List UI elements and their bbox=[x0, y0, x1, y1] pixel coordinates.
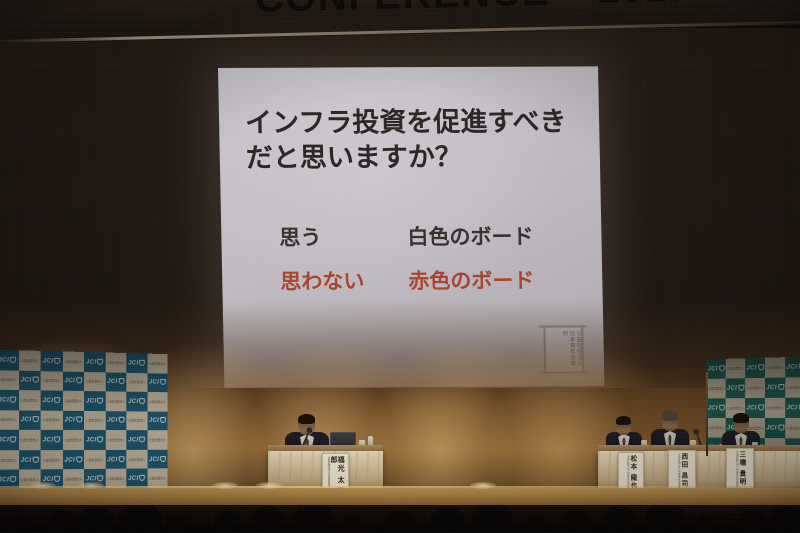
backdrop-tile-org-text: 公益社団法人 bbox=[766, 365, 784, 370]
backdrop-tile-text: 公益社団法人 bbox=[785, 418, 800, 438]
backdrop-tile-jci-logo: JCI bbox=[0, 430, 19, 450]
conference-photo: CONFERENCE 2017 JCI インフラ投資を促進すべき だと思いますか… bbox=[0, 0, 800, 533]
jci-logo-icon: JCI bbox=[0, 356, 16, 364]
jci-logo-icon: JCI bbox=[128, 475, 145, 482]
jci-logo-icon: JCI bbox=[107, 417, 124, 424]
jci-logo-icon: JCI bbox=[64, 456, 82, 463]
backdrop-tile-text: 公益社団法人 bbox=[62, 351, 84, 371]
backdrop-tile-text: 公益社団法人 bbox=[105, 391, 126, 411]
jci-logo-icon: JCI bbox=[727, 385, 744, 392]
backdrop-tile-org-text: 公益社団法人 bbox=[86, 457, 104, 461]
audience-head bbox=[5, 515, 31, 533]
jci-logo-icon: JCI bbox=[0, 436, 16, 443]
nameplate-panelist-1-name: 松本 龍也 bbox=[629, 455, 636, 489]
audience-head bbox=[385, 510, 416, 533]
backdrop-tile-text: 公益社団法人 bbox=[147, 430, 168, 449]
jci-logo-icon: JCI bbox=[43, 357, 61, 364]
jci-logo-icon: JCI bbox=[786, 363, 800, 371]
audience-head bbox=[644, 505, 685, 533]
backdrop-tile-org-text: 公益社団法人 bbox=[20, 438, 39, 442]
jci-logo-icon: JCI bbox=[149, 379, 166, 386]
backdrop-tile-org-text: 公益社団法人 bbox=[727, 366, 745, 371]
backdrop-tile-text: 公益社団法人 bbox=[84, 450, 105, 470]
audience-head bbox=[737, 510, 768, 533]
jci-logo-icon: JCI bbox=[128, 359, 145, 366]
backdrop-tile-text: 公益社団法人 bbox=[0, 410, 19, 430]
audience-head bbox=[250, 506, 286, 533]
jci-logo-icon: JCI bbox=[128, 398, 145, 405]
jci-logo-icon: JCI bbox=[0, 396, 16, 403]
backdrop-tile-org-text: 公益社団法人 bbox=[20, 477, 39, 482]
slide-option-board-1: 白色のボード bbox=[407, 221, 534, 252]
backdrop-tile-org-text: 公益社団法人 bbox=[149, 476, 166, 480]
backdrop-tile-org-text: 公益社団法人 bbox=[64, 359, 82, 364]
backdrop-tile-org-text: 公益社団法人 bbox=[128, 457, 145, 461]
audience-head bbox=[292, 505, 333, 533]
backdrop-tile-jci-logo: JCI bbox=[707, 359, 726, 379]
backdrop-tile-org-text: 公益社団法人 bbox=[64, 398, 82, 403]
jci-logo-icon: JCI bbox=[64, 417, 82, 424]
backdrop-tile-jci-logo: JCI bbox=[785, 398, 800, 418]
nameplate-panelist-2-name: 西田 昌司 bbox=[680, 453, 687, 487]
audience-head bbox=[47, 510, 78, 533]
backdrop-tile-org-text: 公益社団法人 bbox=[746, 386, 764, 391]
backdrop-tile-text: 公益社団法人 bbox=[126, 450, 147, 469]
jci-logo-icon: JCI bbox=[766, 425, 784, 432]
backdrop-tile-org-text: 公益社団法人 bbox=[0, 418, 17, 423]
audience-silhouettes bbox=[0, 505, 800, 533]
jci-logo-icon: JCI bbox=[746, 404, 763, 411]
backdrop-tile-jci-logo: JCI bbox=[41, 390, 63, 410]
jci-logo-icon: JCI bbox=[21, 417, 39, 424]
stage-stand-left bbox=[706, 372, 708, 456]
backdrop-tile-jci-logo: JCI bbox=[62, 410, 84, 430]
jci-logo-icon: JCI bbox=[107, 378, 124, 385]
slide-corner-seal-icon: 公益社団法人日本青年会議所 bbox=[543, 325, 584, 371]
backdrop-tile-jci-logo: JCI bbox=[126, 353, 147, 373]
backdrop-tile-text: 公益社団法人 bbox=[765, 398, 785, 418]
footlight-1 bbox=[30, 482, 56, 489]
nameplate-panelist-3-name: 三橋 貴明 bbox=[738, 451, 745, 485]
backdrop-tile-text: 公益社団法人 bbox=[105, 353, 126, 373]
panel-table-top bbox=[598, 445, 800, 451]
backdrop-tile-text: 公益社団法人 bbox=[707, 379, 726, 399]
jci-logo-icon: JCI bbox=[21, 377, 39, 384]
audience-head bbox=[339, 515, 365, 533]
backdrop-tile-jci-logo: JCI bbox=[41, 351, 63, 371]
audience-head bbox=[472, 505, 513, 533]
backdrop-tile-text: 公益社団法人 bbox=[0, 450, 19, 470]
backdrop-tile-jci-logo: JCI bbox=[84, 430, 105, 450]
jci-logo-icon: JCI bbox=[746, 364, 763, 371]
backdrop-tile-org-text: 公益社団法人 bbox=[64, 438, 82, 442]
backdrop-tile-text: 公益社団法人 bbox=[147, 354, 168, 374]
backdrop-tile-jci-logo: JCI bbox=[62, 450, 84, 470]
audience-head bbox=[768, 506, 800, 533]
backdrop-tile-jci-logo: JCI bbox=[0, 350, 19, 370]
backdrop-tile-org-text: 公益社団法人 bbox=[20, 358, 39, 363]
jci-logo-icon: JCI bbox=[0, 476, 16, 483]
backdrop-tile-org-text: 公益社団法人 bbox=[107, 476, 125, 481]
jci-logo-icon: JCI bbox=[107, 456, 124, 463]
backdrop-tile-jci-logo: JCI bbox=[126, 430, 147, 449]
audience-head bbox=[693, 515, 719, 533]
moderator-table-top bbox=[268, 445, 383, 451]
backdrop-tile-org-text: 公益社団法人 bbox=[149, 361, 166, 366]
backdrop-tile-text: 公益社団法人 bbox=[105, 430, 126, 449]
backdrop-tile-text: 公益社団法人 bbox=[62, 391, 84, 411]
backdrop-tile-text: 公益社団法人 bbox=[147, 392, 168, 411]
backdrop-tile-text: 公益社団法人 bbox=[726, 358, 745, 378]
backdrop-tile-text: 公益社団法人 bbox=[19, 430, 41, 450]
backdrop-tile-jci-logo: JCI bbox=[105, 372, 126, 392]
audience-head bbox=[165, 515, 191, 533]
backdrop-tile-org-text: 公益社団法人 bbox=[727, 406, 745, 410]
panelist-1-hair bbox=[616, 416, 631, 425]
backdrop-tile-org-text: 公益社団法人 bbox=[149, 438, 166, 442]
audience-head bbox=[213, 510, 244, 533]
backdrop-tile-org-text: 公益社団法人 bbox=[0, 378, 17, 383]
backdrop-tile-text: 公益社団法人 bbox=[41, 450, 63, 470]
backdrop-tile-text: 公益社団法人 bbox=[765, 357, 785, 378]
jci-logo-icon: JCI bbox=[64, 377, 82, 384]
backdrop-tile-org-text: 公益社団法人 bbox=[128, 380, 145, 385]
footlight-5 bbox=[470, 482, 496, 489]
audience-head bbox=[602, 506, 638, 533]
backdrop-tile-jci-logo: JCI bbox=[765, 377, 785, 397]
backdrop-tile-jci-logo: JCI bbox=[19, 410, 41, 430]
backdrop-tile-org-text: 公益社団法人 bbox=[707, 386, 724, 391]
footlight-2 bbox=[78, 482, 104, 489]
backdrop-tile-jci-logo: JCI bbox=[126, 392, 147, 411]
footlight-4 bbox=[256, 482, 282, 489]
backdrop-tile-org-text: 公益社団法人 bbox=[0, 458, 17, 463]
banner-title: CONFERENCE bbox=[254, 0, 550, 22]
panelist-3-hair bbox=[733, 413, 749, 423]
backdrop-tile-org-text: 公益社団法人 bbox=[107, 360, 125, 365]
backdrop-tile-org-text: 公益社団法人 bbox=[64, 477, 82, 482]
jci-logo-icon: JCI bbox=[149, 456, 166, 463]
panelist-2-hair bbox=[662, 411, 678, 421]
footlight-3 bbox=[212, 482, 238, 489]
backdrop-tile-jci-logo: JCI bbox=[41, 430, 63, 450]
backdrop-tile-jci-logo: JCI bbox=[147, 450, 168, 469]
backdrop-tile-text: 公益社団法人 bbox=[126, 372, 147, 392]
backdrop-tile-text: 公益社団法人 bbox=[62, 430, 84, 450]
jci-logo-icon: JCI bbox=[128, 437, 145, 444]
backdrop-tile-text: 公益社団法人 bbox=[19, 390, 41, 410]
backdrop-tile-org-text: 公益社団法人 bbox=[786, 385, 800, 390]
backdrop-tile-jci-logo: JCI bbox=[105, 450, 126, 470]
backdrop-tile-text: 公益社団法人 bbox=[745, 378, 765, 398]
backdrop-tile-jci-logo: JCI bbox=[765, 418, 785, 438]
banner-year: 2017 bbox=[597, 0, 691, 13]
audience-head bbox=[523, 515, 549, 533]
backdrop-tile-org-text: 公益社団法人 bbox=[107, 399, 125, 404]
backdrop-tile-org-text: 公益社団法人 bbox=[20, 398, 39, 403]
jci-logo-icon: JCI bbox=[43, 397, 61, 404]
backdrop-tile-text: 公益社団法人 bbox=[84, 372, 105, 392]
backdrop-tile-org-text: 公益社団法人 bbox=[128, 419, 145, 423]
backdrop-tile-org-text: 公益社団法人 bbox=[42, 378, 60, 383]
backdrop-tile-jci-logo: JCI bbox=[19, 370, 41, 390]
backdrop-tile-text: 公益社団法人 bbox=[19, 350, 41, 370]
slide-option-row-2: 思わない 赤色のボード bbox=[280, 264, 611, 295]
backdrop-tile-jci-logo: JCI bbox=[84, 391, 105, 411]
backdrop-tile-text: 公益社団法人 bbox=[84, 411, 105, 431]
jci-logo-icon: JCI bbox=[708, 365, 725, 372]
backdrop-tile-org-text: 公益社団法人 bbox=[86, 379, 104, 384]
slide-option-answer-2: 思わない bbox=[280, 265, 409, 296]
backdrop-tile-jci-logo: JCI bbox=[19, 450, 41, 470]
audience-head bbox=[561, 510, 592, 533]
backdrop-tile-jci-logo: JCI bbox=[785, 357, 800, 378]
jci-logo-icon: JCI bbox=[43, 436, 61, 443]
backdrop-tile-org-text: 公益社団法人 bbox=[86, 418, 104, 422]
panelist-3-head bbox=[733, 413, 749, 433]
backdrop-tile-jci-logo: JCI bbox=[105, 411, 126, 431]
backdrop-tile-jci-logo: JCI bbox=[84, 352, 105, 372]
backdrop-tile-jci-logo: JCI bbox=[147, 411, 168, 430]
jci-logo-icon: JCI bbox=[86, 436, 103, 443]
jci-logo-icon: JCI bbox=[86, 397, 103, 404]
jci-logo-icon: JCI bbox=[86, 358, 103, 365]
backdrop-tile-jci-logo: JCI bbox=[745, 358, 765, 378]
backdrop-tile-text: 公益社団法人 bbox=[41, 371, 63, 391]
backdrop-tile-text: 公益社団法人 bbox=[126, 411, 147, 430]
audience-head bbox=[78, 506, 114, 533]
slide-seal-text: 公益社団法人日本青年会議所 bbox=[545, 330, 582, 368]
audience-head bbox=[120, 505, 161, 533]
panelist-1-head bbox=[616, 416, 631, 435]
jci-logo-icon: JCI bbox=[786, 404, 800, 411]
jci-logo-icon: JCI bbox=[149, 417, 166, 424]
backdrop-tile-text: 公益社団法人 bbox=[0, 370, 19, 390]
backdrop-tile-org-text: 公益社団法人 bbox=[42, 457, 60, 461]
panelist-2-head bbox=[662, 411, 678, 431]
backdrop-tile-jci-logo: JCI bbox=[147, 373, 168, 392]
backdrop-tile-org-text: 公益社団法人 bbox=[149, 399, 166, 403]
backdrop-tile-jci-logo: JCI bbox=[62, 371, 84, 391]
jci-logo-icon: JCI bbox=[21, 456, 39, 463]
backdrop-tile-org-text: 公益社団法人 bbox=[42, 418, 60, 422]
backdrop-tile-text: 公益社団法人 bbox=[785, 377, 800, 398]
moderator-hair bbox=[298, 414, 315, 424]
slide-option-answer-1: 思う bbox=[279, 221, 408, 252]
slide-option-board-2: 赤色のボード bbox=[408, 265, 535, 296]
slide-question: インフラ投資を促進すべき だと思いますか？ bbox=[245, 104, 576, 176]
jci-logo-icon: JCI bbox=[766, 384, 784, 391]
projection-screen: インフラ投資を促進すべき だと思いますか？ 思う 白色のボード 思わない 赤色の… bbox=[218, 66, 604, 388]
backdrop-tile-jci-logo: JCI bbox=[0, 390, 19, 410]
backdrop-tile-org-text: 公益社団法人 bbox=[786, 426, 800, 431]
backdrop-tile-text: 公益社団法人 bbox=[41, 410, 63, 430]
jci-logo-icon: JCI bbox=[708, 405, 725, 412]
backdrop-tile-org-text: 公益社団法人 bbox=[766, 406, 784, 410]
backdrop-tile-org-text: 公益社団法人 bbox=[107, 438, 125, 442]
backdrop-tile-jci-logo: JCI bbox=[726, 378, 745, 398]
slide-option-row-1: 思う 白色のボード bbox=[279, 220, 610, 251]
audience-head bbox=[430, 506, 466, 533]
